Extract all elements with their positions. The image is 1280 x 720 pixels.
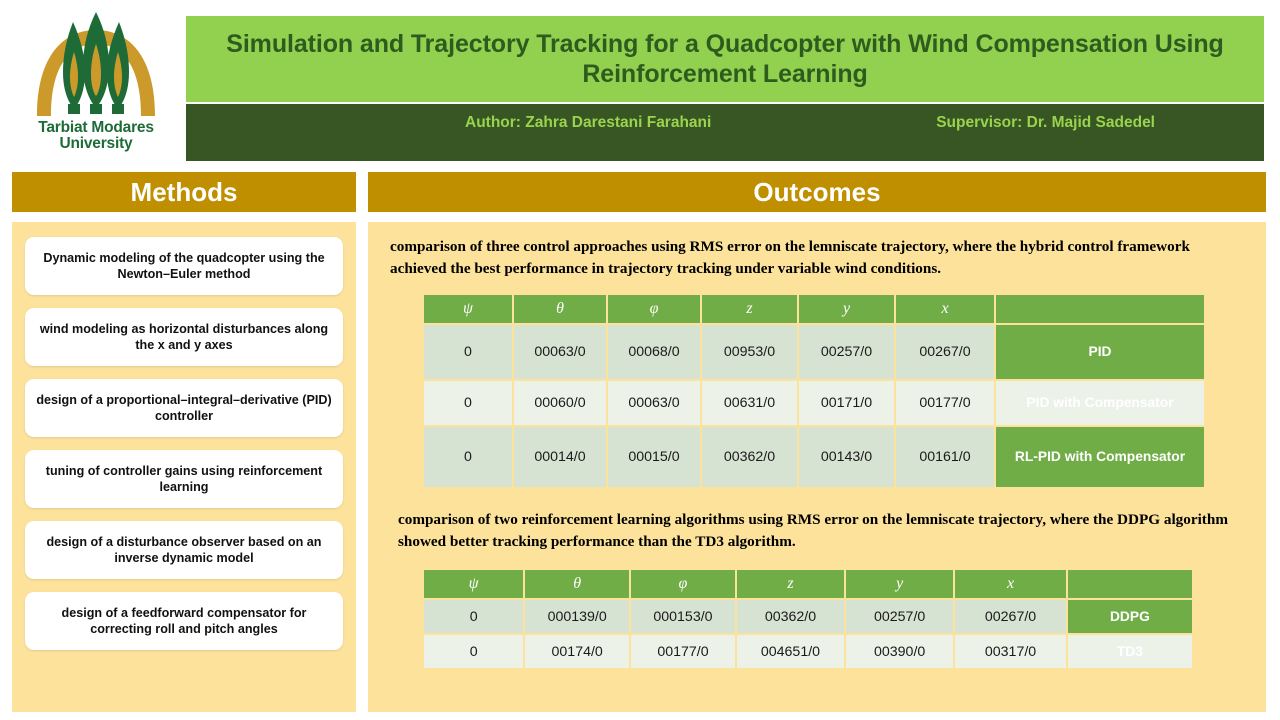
cell-x: 00317/0 [955,635,1066,668]
column-header-y: y [846,570,953,598]
cell-x: 00267/0 [896,325,994,379]
column-header-phi: φ [608,295,700,323]
cell-x: 00177/0 [896,381,994,425]
author-bar: Author: Zahra Darestani Farahani Supervi… [186,104,1264,161]
method-card: Dynamic modeling of the quadcopter using… [25,237,343,295]
cell-phi: 00177/0 [631,635,735,668]
column-header-theta: θ [525,570,629,598]
cell-method-label: RL-PID with Compensator [996,427,1204,487]
method-card: design of a feedforward compensator for … [25,592,343,650]
cell-theta: 00174/0 [525,635,629,668]
cell-z: 00631/0 [702,381,797,425]
cell-psi: 0 [424,600,523,633]
method-card-label: Dynamic modeling of the quadcopter using… [35,250,333,283]
table-row: 0 00014/0 00015/0 00362/0 00143/0 00161/… [424,427,1204,487]
table-header-row: ψ θ φ z y x [424,570,1192,598]
poster-root: Tarbiat Modares University Simulation an… [0,0,1280,720]
cell-z: 00362/0 [737,600,844,633]
method-card-label: tuning of controller gains using reinfor… [35,463,333,496]
cell-x: 00161/0 [896,427,994,487]
page-title: Simulation and Trajectory Tracking for a… [186,29,1264,90]
cell-y: 00257/0 [799,325,894,379]
column-header-x: x [955,570,1066,598]
cell-y: 00171/0 [799,381,894,425]
method-card: wind modeling as horizontal disturbances… [25,308,343,366]
outcomes-heading-label: Outcomes [753,177,880,208]
column-header-method [996,295,1204,323]
cell-phi: 00068/0 [608,325,700,379]
cell-y: 00143/0 [799,427,894,487]
methods-panel: Dynamic modeling of the quadcopter using… [12,222,356,712]
cell-phi: 00015/0 [608,427,700,487]
cell-psi: 0 [424,381,512,425]
logo-text-line1: Tarbiat Modares [38,120,154,136]
logo-text-line2: University [38,136,154,152]
cell-psi: 0 [424,427,512,487]
tarbiat-modares-tulip-arch-icon [21,8,171,120]
rl-algorithms-rms-table: ψ θ φ z y x 0 000139/0 000153/0 00362/0 … [422,568,1194,670]
column-header-psi: ψ [424,295,512,323]
cell-phi: 000153/0 [631,600,735,633]
cell-z: 00953/0 [702,325,797,379]
cell-method-label: PID with Compensator [996,381,1204,425]
cell-method-label: PID [996,325,1204,379]
cell-psi: 0 [424,635,523,668]
cell-z: 004651/0 [737,635,844,668]
cell-phi: 00063/0 [608,381,700,425]
university-logo: Tarbiat Modares University [16,8,176,163]
cell-y: 00390/0 [846,635,953,668]
method-card-label: design of a disturbance observer based o… [35,534,333,567]
column-header-z: z [737,570,844,598]
column-header-theta: θ [514,295,606,323]
methods-section-heading: Methods [12,172,356,212]
method-card-label: design of a feedforward compensator for … [35,605,333,638]
outcomes-section-heading: Outcomes [368,172,1266,212]
table-row: 0 00060/0 00063/0 00631/0 00171/0 00177/… [424,381,1204,425]
control-approaches-rms-table: ψ θ φ z y x 0 00063/0 00068/0 00953/0 00… [422,293,1206,489]
cell-theta: 000139/0 [525,600,629,633]
cell-theta: 00014/0 [514,427,606,487]
cell-x: 00267/0 [955,600,1066,633]
method-card: design of a proportional–integral–deriva… [25,379,343,437]
method-card-label: wind modeling as horizontal disturbances… [35,321,333,354]
cell-theta: 00060/0 [514,381,606,425]
table-row: 0 00174/0 00177/0 004651/0 00390/0 00317… [424,635,1192,668]
cell-z: 00362/0 [702,427,797,487]
column-header-z: z [702,295,797,323]
supervisor-name: Supervisor: Dr. Majid Sadedel [936,114,1155,132]
method-card: tuning of controller gains using reinfor… [25,450,343,508]
outcomes-paragraph-1: comparison of three control approaches u… [380,236,1254,279]
column-header-x: x [896,295,994,323]
cell-theta: 00063/0 [514,325,606,379]
cell-y: 00257/0 [846,600,953,633]
table-row: 0 000139/0 000153/0 00362/0 00257/0 0026… [424,600,1192,633]
poster-title-bar: Simulation and Trajectory Tracking for a… [186,16,1264,102]
outcomes-paragraph-2: comparison of two reinforcement learning… [380,509,1254,552]
table-header-row: ψ θ φ z y x [424,295,1204,323]
outcomes-panel: comparison of three control approaches u… [368,222,1266,712]
cell-algorithm-label: TD3 [1068,635,1192,668]
column-header-y: y [799,295,894,323]
methods-heading-label: Methods [131,177,238,208]
column-header-psi: ψ [424,570,523,598]
column-header-phi: φ [631,570,735,598]
column-header-algorithm [1068,570,1192,598]
table-row: 0 00063/0 00068/0 00953/0 00257/0 00267/… [424,325,1204,379]
cell-algorithm-label: DDPG [1068,600,1192,633]
cell-psi: 0 [424,325,512,379]
method-card-label: design of a proportional–integral–deriva… [35,392,333,425]
method-card: design of a disturbance observer based o… [25,521,343,579]
author-name: Author: Zahra Darestani Farahani [465,114,711,132]
